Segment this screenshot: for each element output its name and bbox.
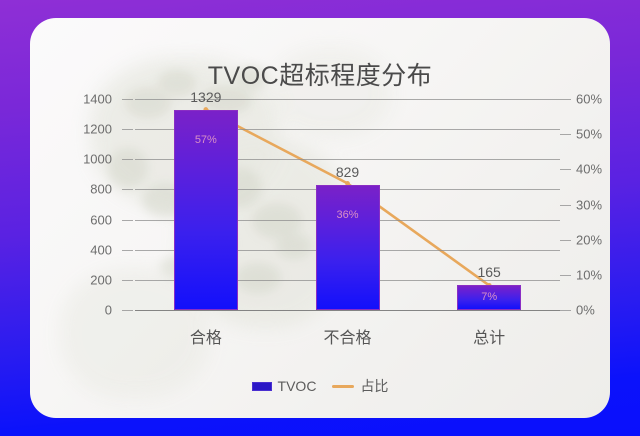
y-axis-label-left: 0 <box>40 303 112 318</box>
y-axis-tick-right <box>560 99 571 100</box>
ratio-point-label: 36% <box>336 209 358 221</box>
y-axis-label-left: 400 <box>40 242 112 257</box>
y-axis-label-left: 600 <box>40 212 112 227</box>
legend-label-ratio: 占比 <box>360 376 388 396</box>
y-axis-label-left: 1200 <box>40 122 112 137</box>
bar-value-label: 165 <box>477 264 500 280</box>
y-axis-label-right: 30% <box>576 197 610 212</box>
legend: TVOC 占比 <box>30 376 610 396</box>
y-axis-tick <box>122 310 133 311</box>
bar-不合格[interactable] <box>316 185 380 310</box>
y-axis-label-left: 800 <box>40 182 112 197</box>
y-axis-label-right: 0% <box>576 303 610 318</box>
y-axis-label-right: 10% <box>576 267 610 282</box>
y-axis-tick <box>122 250 133 251</box>
y-axis-tick-right <box>560 134 571 135</box>
x-axis-label: 合格 <box>190 324 222 348</box>
y-axis-label-right: 20% <box>576 232 610 247</box>
y-axis-tick <box>122 129 133 130</box>
y-axis-label-left: 1000 <box>40 152 112 167</box>
legend-item-tvoc[interactable]: TVOC <box>252 378 317 394</box>
y-axis-label-right: 40% <box>576 162 610 177</box>
y-axis-label-left: 200 <box>40 272 112 287</box>
bar-value-label: 829 <box>336 164 359 180</box>
y-axis-tick <box>122 99 133 100</box>
legend-item-ratio[interactable]: 占比 <box>332 376 388 396</box>
y-axis-label-right: 50% <box>576 127 610 142</box>
chart-card: TVOC超标程度分布 TVOC 占比 020040060080010001200… <box>30 18 610 418</box>
poster-frame: TVOC超标程度分布 TVOC 占比 020040060080010001200… <box>0 0 640 436</box>
y-axis-tick-right <box>560 205 571 206</box>
y-axis-tick-right <box>560 275 571 276</box>
x-axis-label: 不合格 <box>323 324 371 348</box>
y-axis-tick-right <box>560 169 571 170</box>
ratio-point-label: 7% <box>481 291 497 303</box>
gridline <box>135 310 560 311</box>
y-axis-tick <box>122 189 133 190</box>
y-axis-tick-right <box>560 310 571 311</box>
x-axis-label: 总计 <box>473 324 505 348</box>
legend-label-tvoc: TVOC <box>278 378 317 394</box>
y-axis-tick <box>122 220 133 221</box>
bar-value-label: 1329 <box>190 89 221 105</box>
bar-swatch-icon <box>252 382 272 391</box>
line-swatch-icon <box>332 385 354 388</box>
ratio-point-label: 57% <box>195 134 217 146</box>
y-axis-tick-right <box>560 240 571 241</box>
y-axis-tick <box>122 159 133 160</box>
y-axis-label-left: 1400 <box>40 92 112 107</box>
y-axis-label-right: 60% <box>576 92 610 107</box>
y-axis-tick <box>122 280 133 281</box>
page-title: TVOC超标程度分布 <box>30 56 610 92</box>
